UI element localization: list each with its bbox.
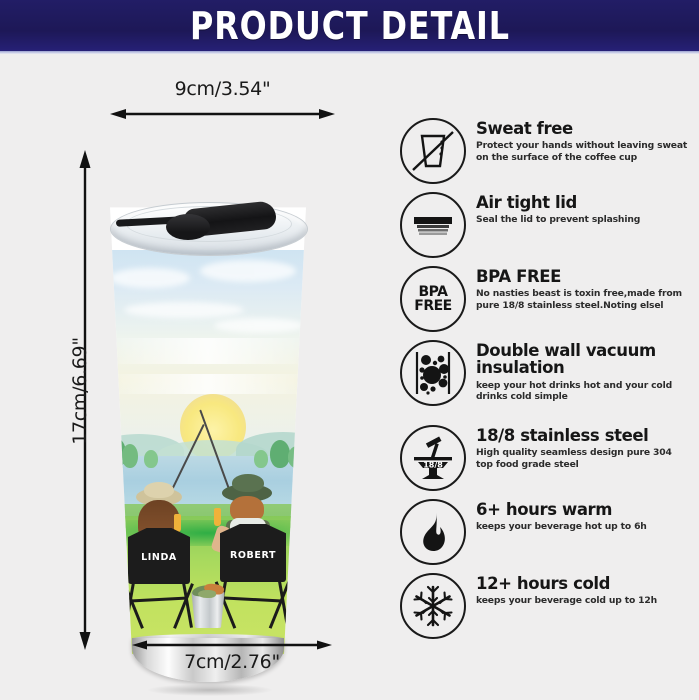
feature-text: 12+ hours cold keeps your beverage cold … (476, 573, 699, 607)
arrow-horizontal-bottom-icon (132, 639, 332, 651)
artwork-tree (270, 440, 290, 468)
snowflake-icon (400, 573, 466, 639)
feature-desc: High quality seamless design pure 304 to… (476, 447, 691, 470)
artwork-chair-left: LINDA (124, 528, 198, 632)
dimension-height-label: 17cm/6.69" (69, 221, 91, 561)
feature-title: Double wall vacuum insulation (476, 342, 699, 377)
lid-stack-icon (400, 192, 466, 258)
bpa-line-2: FREE (414, 299, 451, 313)
feature-title: Sweat free (476, 120, 699, 137)
feature-item-bpa-free: BPA FREE BPA FREE No nasties beast is to… (400, 266, 699, 329)
bpa-free-icon-text: BPA FREE (402, 268, 464, 330)
tumbler-body: LINDA ROBERT (108, 198, 308, 698)
feature-title: 6+ hours warm (476, 501, 699, 518)
artwork-haze (108, 374, 308, 394)
artwork-cloud (200, 260, 296, 282)
artwork-cloud (214, 318, 304, 333)
feature-text: 6+ hours warm keeps your beverage hot up… (476, 499, 699, 533)
feature-text: BPA FREE No nasties beast is toxin free,… (476, 266, 699, 311)
no-sweat-cup-icon (400, 118, 466, 184)
artwork-tree (144, 450, 158, 468)
feature-desc: No nasties beast is toxin free,made from… (476, 288, 691, 311)
feature-text: Sweat free Protect your hands without le… (476, 118, 699, 163)
artwork-tree (288, 446, 306, 468)
chair-name-right: ROBERT (220, 550, 286, 561)
dimension-top-width: 9cm/3.54" (110, 78, 335, 124)
artwork-chair-bar (130, 596, 188, 602)
artwork-hat (232, 474, 264, 492)
lid-knob (166, 214, 210, 240)
artwork-cloud (124, 302, 244, 318)
page-title: PRODUCT DETAIL (190, 4, 510, 48)
bpa-free-icon: BPA FREE (400, 266, 466, 332)
anvil-hammer-icon: 18/8 (400, 425, 466, 491)
feature-title: 18/8 stainless steel (476, 427, 699, 444)
feature-title: 12+ hours cold (476, 575, 699, 592)
flame-icon (400, 499, 466, 565)
feature-desc: keeps your beverage cold up to 12h (476, 595, 691, 607)
product-detail-page: PRODUCT DETAIL 9cm/3.54" 17cm/6.69" (0, 0, 699, 700)
dimension-bottom-width: 7cm/2.76" (132, 639, 332, 689)
svg-text:18/8: 18/8 (423, 461, 443, 470)
feature-list: Sweat free Protect your hands without le… (400, 118, 699, 647)
feature-title: Air tight lid (476, 194, 699, 211)
artwork-chair-bar (222, 596, 284, 602)
feature-item-double-wall: Double wall vacuum insulation keep your … (400, 340, 699, 414)
artwork-cloud (110, 268, 190, 288)
page-header: PRODUCT DETAIL (0, 0, 699, 51)
feature-desc: keeps your beverage hot up to 6h (476, 521, 691, 533)
feature-item-air-tight-lid: Air tight lid Seal the lid to prevent sp… (400, 192, 699, 255)
feature-desc: Protect your hands without leaving sweat… (476, 140, 691, 163)
feature-item-sweat-free: Sweat free Protect your hands without le… (400, 118, 699, 181)
artwork-haze (108, 338, 308, 364)
feature-item-stainless-steel: 18/8 18/8 stainless steel High quality s… (400, 425, 699, 488)
tumbler-artwork: LINDA ROBERT (108, 198, 308, 668)
dimension-bottom-width-label: 7cm/2.76" (132, 651, 332, 673)
artwork-fish (198, 590, 216, 598)
artwork-hat (144, 482, 174, 498)
feature-text: Double wall vacuum insulation keep your … (476, 340, 699, 403)
feature-text: 18/8 stainless steel High quality seamle… (476, 425, 699, 470)
artwork-tree (122, 444, 138, 468)
dimension-top-width-label: 9cm/3.54" (110, 78, 335, 100)
double-wall-bubbles-icon (400, 340, 466, 406)
tumbler-product-image: LINDA ROBERT (108, 162, 308, 662)
artwork-tree (254, 450, 268, 468)
feature-desc: keep your hot drinks hot and your cold d… (476, 380, 691, 403)
feature-text: Air tight lid Seal the lid to prevent sp… (476, 192, 699, 226)
chair-name-left: LINDA (128, 552, 190, 563)
feature-item-hours-cold: 12+ hours cold keeps your beverage cold … (400, 573, 699, 636)
artwork-chair-right: ROBERT (216, 524, 294, 632)
product-image-pane: 9cm/3.54" 17cm/6.69" (0, 54, 395, 700)
tumbler-cup-surface: LINDA ROBERT (108, 198, 308, 668)
bpa-line-1: BPA (419, 285, 448, 299)
feature-desc: Seal the lid to prevent splashing (476, 214, 691, 226)
arrow-horizontal-top-icon (110, 108, 335, 120)
feature-title: BPA FREE (476, 268, 699, 285)
feature-item-hours-warm: 6+ hours warm keeps your beverage hot up… (400, 499, 699, 562)
tumbler-lid (110, 198, 306, 260)
